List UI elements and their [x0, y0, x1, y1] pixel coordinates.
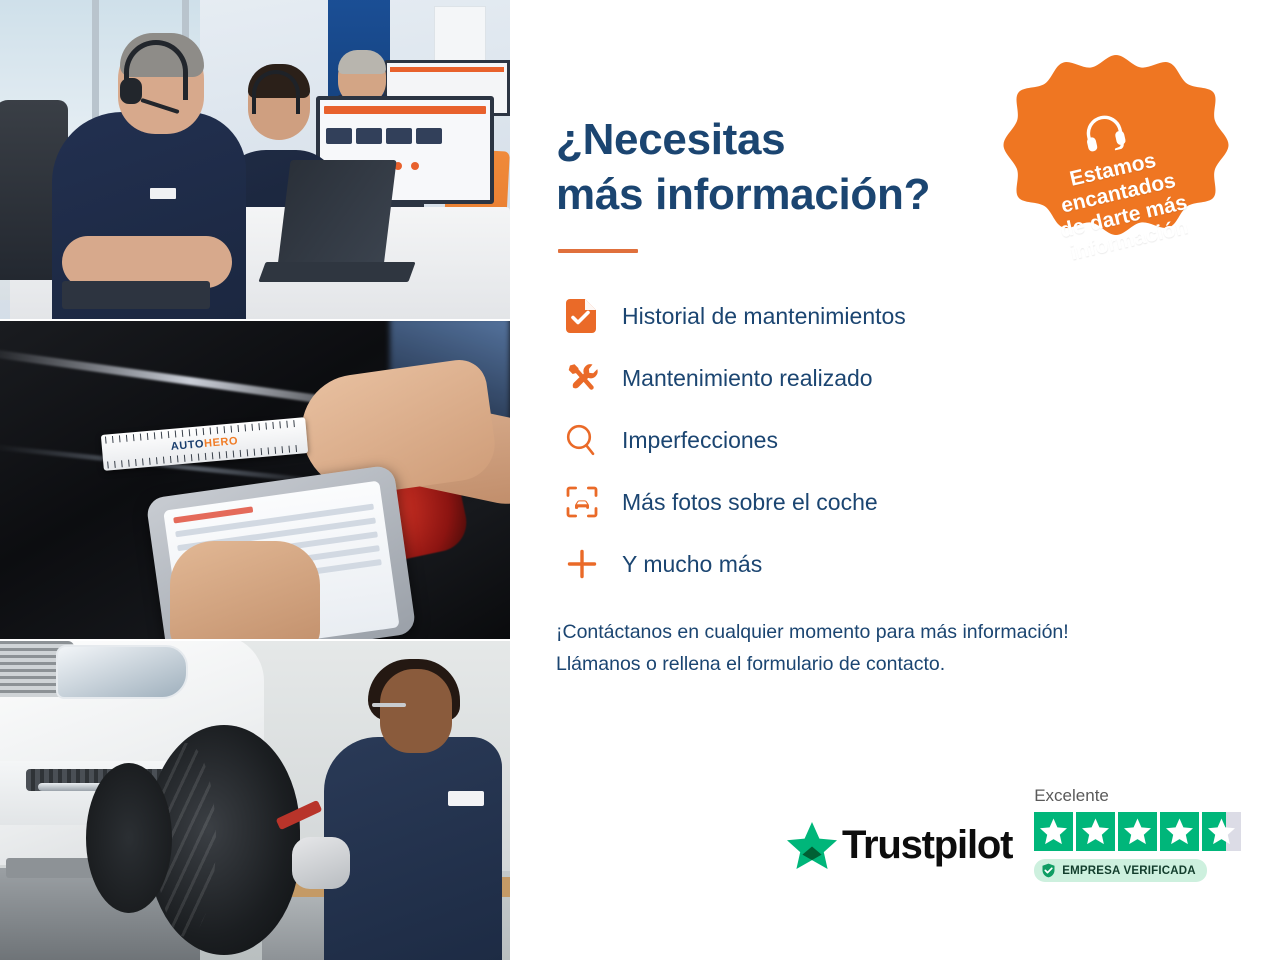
desk-notebook [62, 281, 210, 309]
car-inspection-ruler-photo: AUTOHERO [0, 321, 510, 640]
workshop-tyre-photo [0, 641, 510, 960]
trustpilot-block[interactable]: Trustpilot Excelente [786, 786, 1241, 882]
trustpilot-wordmark: Trustpilot [842, 823, 1012, 868]
star-5 [1202, 812, 1241, 851]
contact-line-2: Llámanos o rellena el formulario de cont… [556, 649, 1280, 681]
laptop-base [258, 262, 415, 282]
rating-label: Excelente [1034, 786, 1109, 806]
checklist-document-icon [556, 299, 612, 333]
star-4 [1160, 812, 1199, 851]
trustpilot-logo[interactable]: Trustpilot [786, 820, 1012, 882]
feature-label: Más fotos sobre el coche [612, 489, 878, 516]
agent-one-shirt-badge [150, 188, 176, 199]
mechanic-head [380, 669, 452, 753]
tablet-holding-hand [170, 541, 320, 639]
mechanic-glasses [372, 703, 406, 707]
content-panel: ¿Necesitas más información? Historial de… [510, 0, 1280, 960]
title-divider [558, 249, 638, 253]
feature-label: Y mucho más [612, 551, 762, 578]
verified-company-badge: EMPRESA VERIFICADA [1034, 859, 1207, 882]
feature-label: Mantenimiento realizado [612, 365, 873, 392]
car-headlight [56, 645, 188, 699]
wrench-screwdriver-icon [556, 361, 612, 395]
star-1 [1034, 812, 1073, 851]
info-promo-page: AUTOHERO [0, 0, 1280, 960]
agent-one-earcup [120, 78, 142, 104]
car-in-frame-icon [556, 486, 612, 518]
mechanic-glove [292, 837, 350, 889]
trustpilot-star-icon [786, 820, 838, 870]
verified-label: EMPRESA VERIFICADA [1062, 865, 1196, 877]
feature-item-much-more: Y mucho más [556, 533, 1280, 595]
mechanic-body [324, 737, 502, 960]
autohero-ruler: AUTOHERO [101, 417, 308, 471]
star-2 [1076, 812, 1115, 851]
star-3 [1118, 812, 1157, 851]
support-badge: Estamos encantados de darte más informac… [991, 50, 1241, 300]
mechanic-shirt-badge [448, 791, 484, 806]
feature-list: Historial de mantenimientos Mantenimient… [556, 285, 1280, 595]
plus-icon [556, 548, 612, 580]
agent-three-hair [338, 50, 386, 74]
star-rating [1034, 812, 1241, 851]
shield-check-icon [1041, 863, 1056, 878]
contact-text: ¡Contáctanos en cualquier momento para m… [556, 617, 1280, 680]
laptop-screen [277, 160, 396, 268]
magnifying-glass-icon [556, 424, 612, 456]
photo-column: AUTOHERO [0, 0, 510, 960]
feature-label: Imperfecciones [612, 427, 778, 454]
feature-label: Historial de mantenimientos [612, 303, 906, 330]
trustpilot-rating: Excelente [1034, 786, 1241, 882]
agent-two-headset [252, 70, 300, 114]
wheel-hub [86, 763, 172, 913]
contact-line-1: ¡Contáctanos en cualquier momento para m… [556, 617, 1280, 649]
feature-item-more-photos: Más fotos sobre el coche [556, 471, 1280, 533]
feature-item-imperfections: Imperfecciones [556, 409, 1280, 471]
call-center-agents-photo [0, 0, 510, 319]
feature-item-maintenance-done: Mantenimiento realizado [556, 347, 1280, 409]
